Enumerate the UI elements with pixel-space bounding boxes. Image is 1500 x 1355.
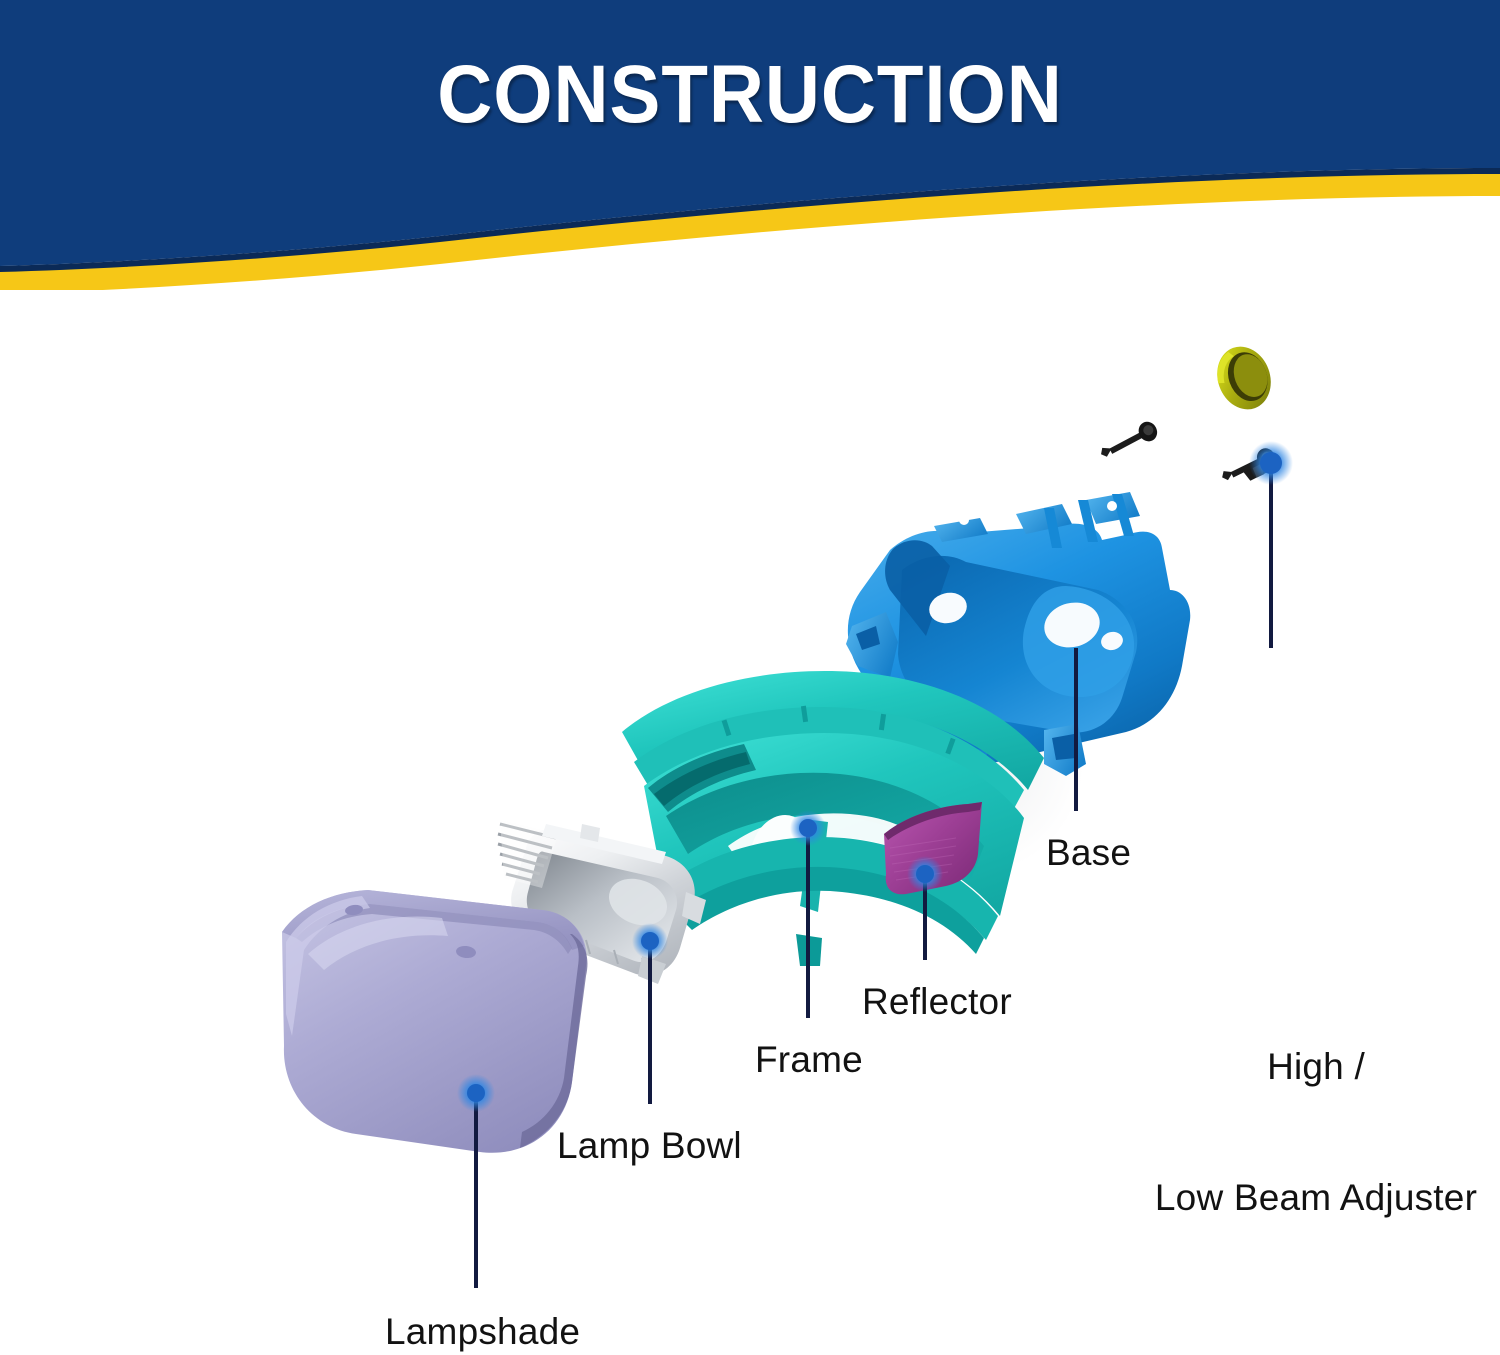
leader-dot-frame [799,819,817,837]
callout-label-reflector: Reflector [862,980,1012,1024]
callout-label-base: Base [1046,831,1131,875]
leader-dot-lamp-bowl [641,932,659,950]
callout-label-frame: Frame [755,1038,863,1082]
header-banner: CONSTRUCTION [0,0,1500,290]
callout-label-lamp-bowl: Lamp Bowl [557,1124,742,1168]
base-tab-hole-2 [1107,501,1117,511]
adjuster-screw-left [1097,418,1160,464]
leader-dot-lampshade [467,1084,485,1102]
leader-dot-adjuster [1260,452,1282,474]
base-bottom-connector-slot [1052,734,1076,760]
construction-infographic: CONSTRUCTION [0,0,1500,1355]
base-tab-hole-1 [959,515,969,525]
callout-label-high-low-beam-adjuster-line2: Low Beam Adjuster [1151,1176,1481,1220]
callout-label-high-low-beam-adjuster-line1: High / [1151,1045,1481,1089]
leader-dot-reflector [916,865,934,883]
callout-label-lampshade: Lampshade [385,1310,580,1354]
adjuster-cap [1209,339,1280,417]
exploded-diagram: High / Low Beam Adjuster Base Reflector … [0,290,1500,1355]
part-lampshade [282,890,587,1153]
callout-label-high-low-beam-adjuster: High / Low Beam Adjuster [1151,958,1481,1307]
header-banner-shape [0,0,1500,290]
